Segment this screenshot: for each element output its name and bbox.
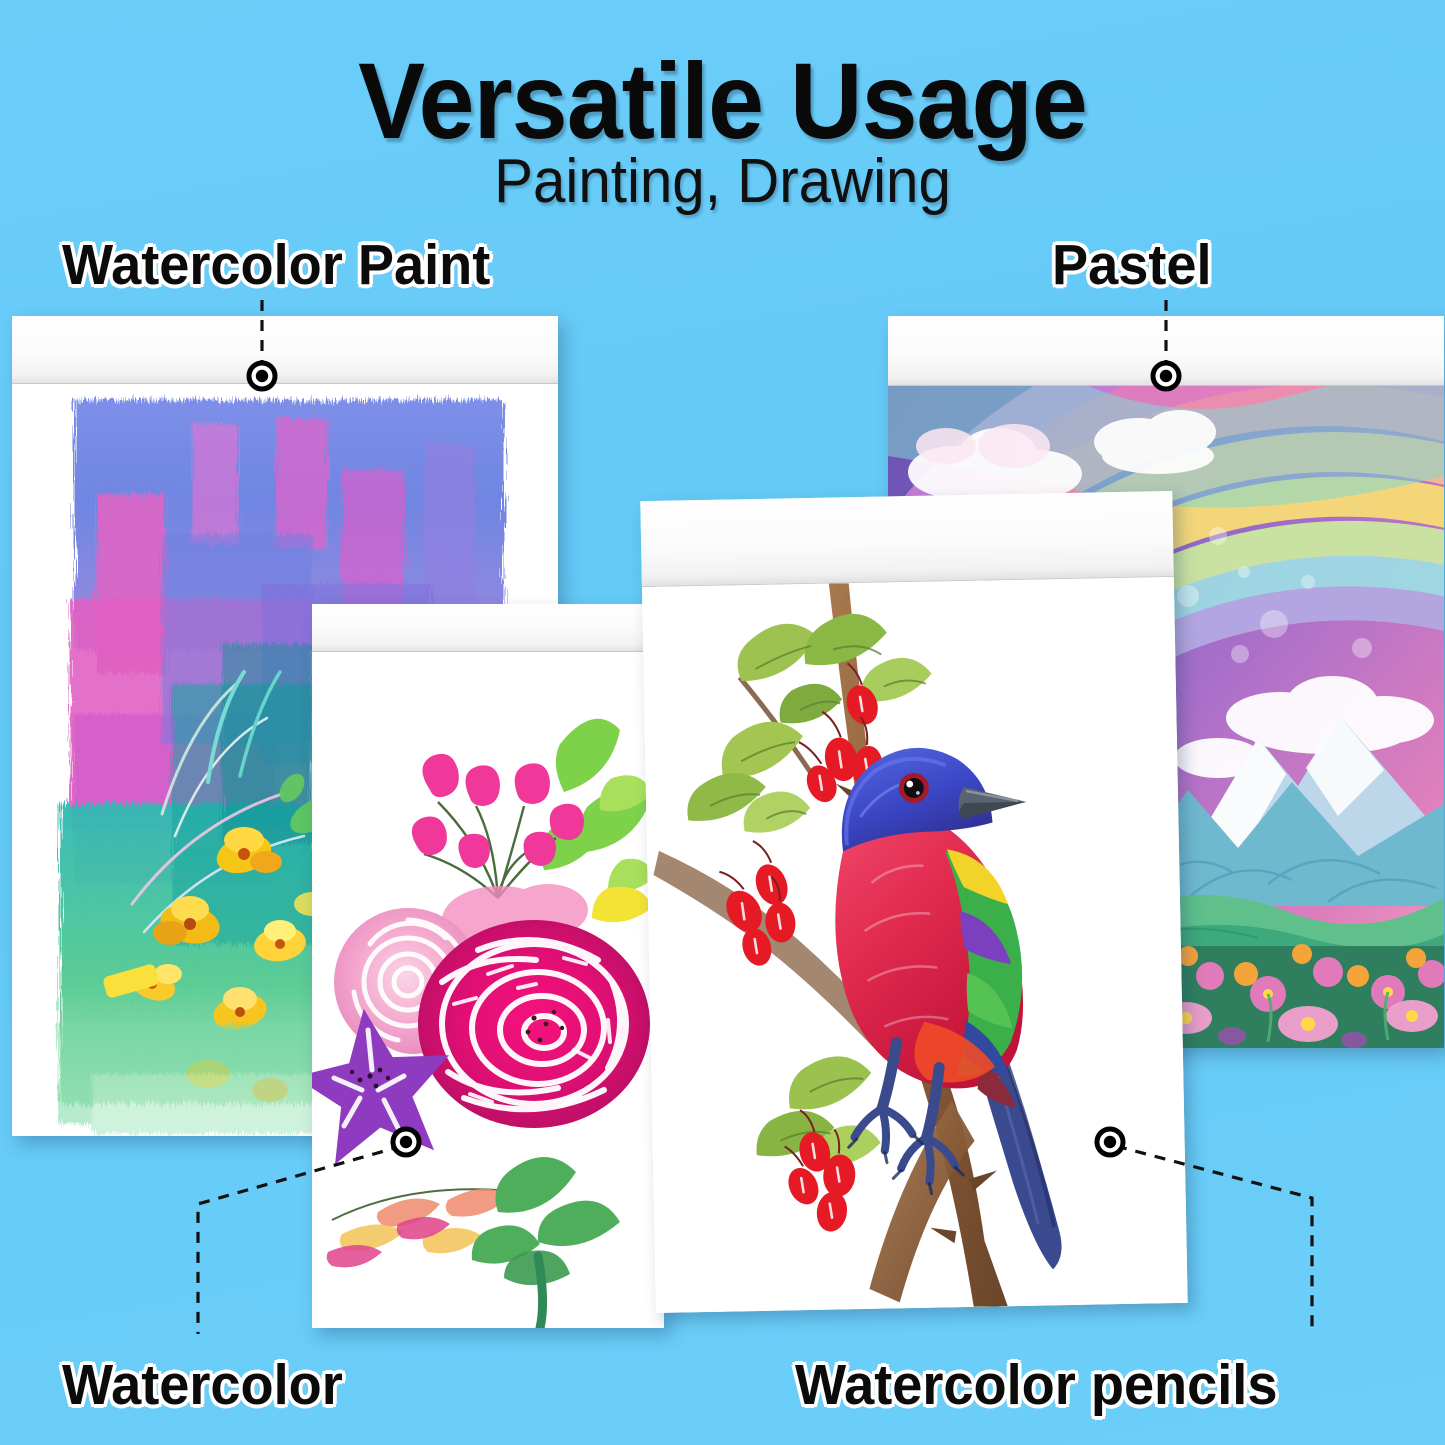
pad-sheet <box>642 577 1188 1313</box>
pad-binding-band <box>312 604 664 652</box>
pad-binding-band <box>12 316 558 384</box>
artwork-watercolor <box>312 652 664 1328</box>
artwork-watercolor-pencils <box>642 577 1188 1313</box>
pad-watercolor <box>312 604 664 1328</box>
page-title: Versatile Usage <box>51 38 1395 163</box>
callout-label-watercolor: Watercolor <box>62 1352 343 1418</box>
callout-label-pastel: Pastel <box>1052 232 1212 298</box>
pad-binding-band <box>640 491 1174 587</box>
pad-binding-band <box>888 316 1444 386</box>
pad-watercolor-pencils <box>640 491 1187 1313</box>
product-feature-image: Versatile Usage Painting, Drawing <box>0 0 1445 1445</box>
pad-sheet <box>312 652 664 1328</box>
page-subtitle: Painting, Drawing <box>43 146 1401 217</box>
callout-label-watercolor-paint: Watercolor Paint <box>62 232 490 298</box>
callout-label-watercolor-pencils: Watercolor pencils <box>795 1352 1277 1418</box>
